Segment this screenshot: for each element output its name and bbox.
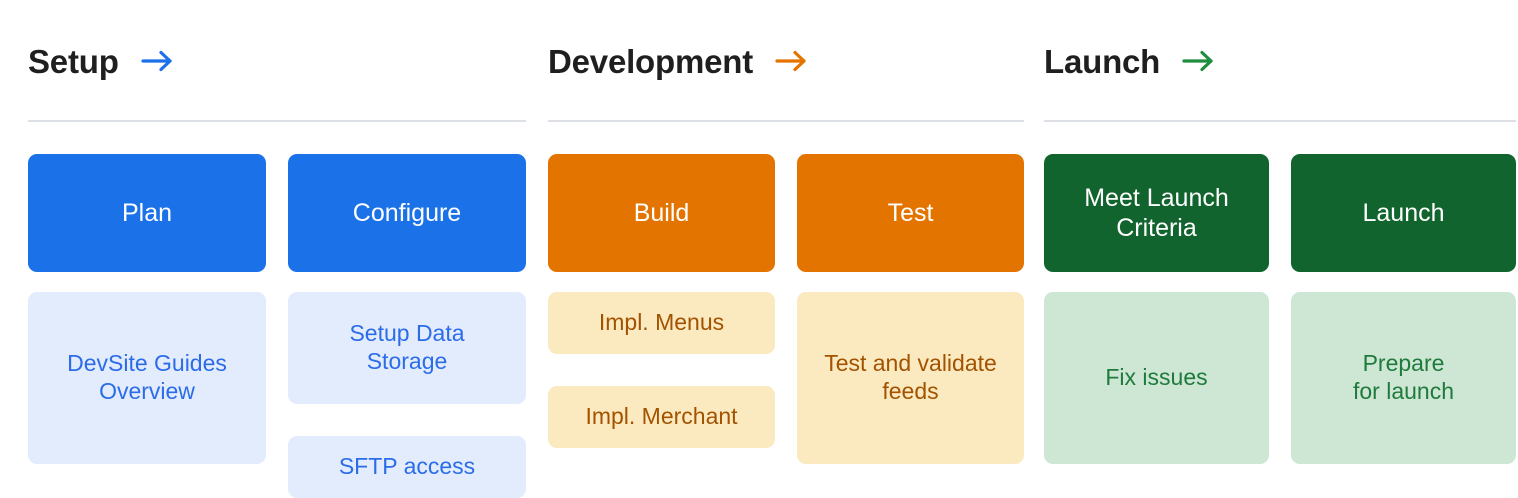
phase-divider (28, 120, 526, 122)
arrow-right-icon (775, 46, 809, 76)
phase-header-setup: Setup (28, 34, 526, 88)
phase-column-development: Development Build Impl. Menus Impl. Merc… (548, 0, 1024, 484)
primary-card-configure[interactable]: Configure (288, 154, 526, 272)
task-card[interactable]: Impl. Menus (548, 292, 775, 354)
primary-card-build[interactable]: Build (548, 154, 775, 272)
task-card[interactable]: SFTP access (288, 436, 526, 498)
primary-card-test[interactable]: Test (797, 154, 1024, 272)
phase-lanes: Plan DevSite Guides Overview Configure S… (28, 154, 526, 498)
phase-lanes: Build Impl. Menus Impl. Merchant Test Te… (548, 154, 1024, 464)
phase-header-development: Development (548, 34, 1024, 88)
primary-card-meet-launch-criteria[interactable]: Meet Launch Criteria (1044, 154, 1269, 272)
lane-plan: Plan DevSite Guides Overview (28, 154, 266, 464)
task-card[interactable]: DevSite Guides Overview (28, 292, 266, 464)
phase-divider (548, 120, 1024, 122)
task-card[interactable]: Test and validate feeds (797, 292, 1024, 464)
arrow-right-icon (141, 46, 175, 76)
task-card[interactable]: Impl. Merchant (548, 386, 775, 448)
lane-configure: Configure Setup Data Storage SFTP access (288, 154, 526, 498)
phase-lanes: Meet Launch Criteria Fix issues Launch P… (1044, 154, 1516, 464)
lane-build: Build Impl. Menus Impl. Merchant (548, 154, 775, 448)
arrow-right-icon (1182, 46, 1216, 76)
phase-column-launch: Launch Meet Launch Criteria Fix issues L… (1044, 0, 1516, 484)
phase-title: Setup (28, 45, 119, 78)
lane-test: Test Test and validate feeds (797, 154, 1024, 464)
task-card[interactable]: Fix issues (1044, 292, 1269, 464)
phase-header-launch: Launch (1044, 34, 1516, 88)
phase-title: Development (548, 45, 753, 78)
primary-card-launch[interactable]: Launch (1291, 154, 1516, 272)
primary-card-plan[interactable]: Plan (28, 154, 266, 272)
phase-column-setup: Setup Plan DevSite Guides Overview Confi… (28, 0, 526, 484)
lane-launch: Launch Prepare for launch (1291, 154, 1516, 464)
task-card[interactable]: Prepare for launch (1291, 292, 1516, 464)
phase-divider (1044, 120, 1516, 122)
lane-meet-launch-criteria: Meet Launch Criteria Fix issues (1044, 154, 1269, 464)
phase-title: Launch (1044, 45, 1160, 78)
roadmap-board: Setup Plan DevSite Guides Overview Confi… (0, 0, 1518, 484)
task-card[interactable]: Setup Data Storage (288, 292, 526, 404)
